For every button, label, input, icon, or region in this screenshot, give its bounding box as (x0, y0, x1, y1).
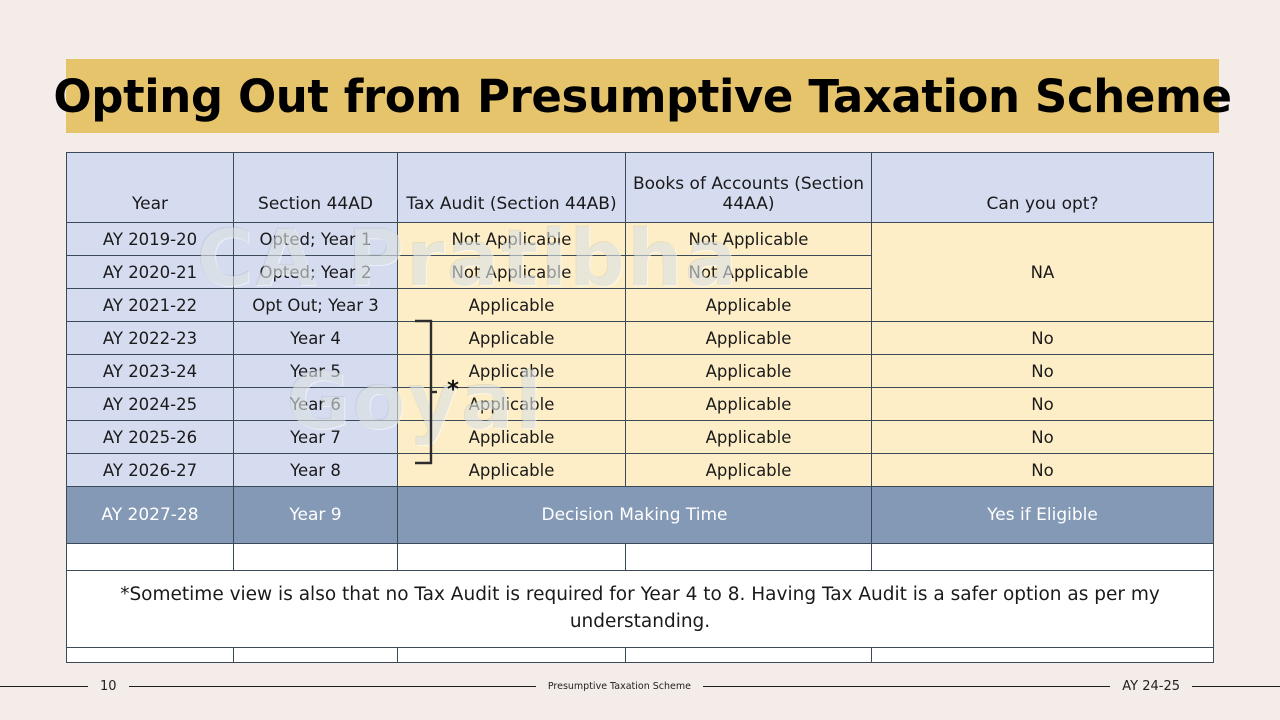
cell-tax-audit: Not Applicable (398, 256, 626, 289)
cell-tax-audit: Not Applicable (398, 223, 626, 256)
cell-year: AY 2020-21 (67, 256, 234, 289)
cell-books: Applicable (626, 322, 872, 355)
cell-tax-audit: Applicable (398, 289, 626, 322)
title-banner: Opting Out from Presumptive Taxation Sch… (66, 59, 1219, 133)
table-row: AY 2026-27 Year 8 Applicable Applicable … (67, 454, 1214, 487)
cell-books: Not Applicable (626, 256, 872, 289)
cell-section-44ad: Opted; Year 2 (234, 256, 398, 289)
cell-tax-audit: Applicable (398, 388, 626, 421)
table-row: AY 2022-23 Year 4 Applicable Applicable … (67, 322, 1214, 355)
table-footnote-row: *Sometime view is also that no Tax Audit… (67, 571, 1214, 648)
column-header-tax-audit: Tax Audit (Section 44AB) (398, 153, 626, 223)
table-row-highlight: AY 2027-28 Year 9 Decision Making Time Y… (67, 487, 1214, 544)
page-title: Opting Out from Presumptive Taxation Sch… (53, 70, 1231, 123)
cell-section-44ad-highlight: Year 9 (234, 487, 398, 544)
footer-rule (1192, 686, 1280, 687)
blank-cell (872, 648, 1214, 663)
cell-books: Applicable (626, 421, 872, 454)
cell-year: AY 2022-23 (67, 322, 234, 355)
cell-can-opt: No (872, 388, 1214, 421)
cell-section-44ad: Year 8 (234, 454, 398, 487)
table-blank-row (67, 544, 1214, 571)
cell-can-opt: No (872, 421, 1214, 454)
cell-books: Applicable (626, 388, 872, 421)
cell-can-opt: No (872, 322, 1214, 355)
blank-cell (626, 544, 872, 571)
footnote-text: *Sometime view is also that no Tax Audit… (67, 571, 1214, 648)
footer-assessment-year: AY 24-25 (1110, 679, 1192, 694)
footer-rule (0, 686, 88, 687)
cell-tax-audit: Applicable (398, 454, 626, 487)
table-header-row: Year Section 44AD Tax Audit (Section 44A… (67, 153, 1214, 223)
blank-cell (234, 648, 398, 663)
cell-books: Applicable (626, 355, 872, 388)
cell-books: Not Applicable (626, 223, 872, 256)
column-header-section-44ad: Section 44AD (234, 153, 398, 223)
cell-can-opt: No (872, 454, 1214, 487)
blank-cell (398, 544, 626, 571)
cell-year-highlight: AY 2027-28 (67, 487, 234, 544)
column-header-can-you-opt: Can you opt? (872, 153, 1214, 223)
blank-cell (67, 544, 234, 571)
cell-section-44ad: Year 5 (234, 355, 398, 388)
cell-can-opt: No (872, 355, 1214, 388)
cell-tax-audit: Applicable (398, 421, 626, 454)
cell-can-opt-na: NA (872, 223, 1214, 322)
cell-year: AY 2025-26 (67, 421, 234, 454)
cell-section-44ad: Year 4 (234, 322, 398, 355)
footer-rule (703, 686, 1110, 687)
column-header-year: Year (67, 153, 234, 223)
cell-books: Applicable (626, 454, 872, 487)
cell-year: AY 2019-20 (67, 223, 234, 256)
cell-section-44ad: Year 7 (234, 421, 398, 454)
blank-cell (626, 648, 872, 663)
cell-section-44ad: Year 6 (234, 388, 398, 421)
cell-year: AY 2021-22 (67, 289, 234, 322)
cell-tax-audit: Applicable (398, 355, 626, 388)
table-row: AY 2024-25 Year 6 Applicable Applicable … (67, 388, 1214, 421)
footer-page-number: 10 (88, 679, 129, 694)
cell-year: AY 2023-24 (67, 355, 234, 388)
slide-footer: 10 Presumptive Taxation Scheme AY 24-25 (0, 676, 1280, 696)
footer-rule (129, 686, 536, 687)
blank-cell (234, 544, 398, 571)
footer-center-label: Presumptive Taxation Scheme (536, 681, 703, 692)
blank-cell (67, 648, 234, 663)
cell-section-44ad: Opted; Year 1 (234, 223, 398, 256)
cell-year: AY 2026-27 (67, 454, 234, 487)
cell-year: AY 2024-25 (67, 388, 234, 421)
cell-decision-making-time: Decision Making Time (398, 487, 872, 544)
presumptive-taxation-table: Year Section 44AD Tax Audit (Section 44A… (66, 152, 1214, 663)
spreadsheet-area: CA Pratibha Goyal Year Section 44AD Tax … (66, 152, 1214, 648)
table-tail-row (67, 648, 1214, 663)
table-row: AY 2019-20 Opted; Year 1 Not Applicable … (67, 223, 1214, 256)
cell-books: Applicable (626, 289, 872, 322)
table-row: AY 2025-26 Year 7 Applicable Applicable … (67, 421, 1214, 454)
column-header-books-of-accounts: Books of Accounts (Section 44AA) (626, 153, 872, 223)
blank-cell (398, 648, 626, 663)
cell-can-opt-highlight: Yes if Eligible (872, 487, 1214, 544)
table-row: AY 2023-24 Year 5 Applicable Applicable … (67, 355, 1214, 388)
bracket-asterisk-marker: * (447, 379, 459, 402)
cell-section-44ad: Opt Out; Year 3 (234, 289, 398, 322)
cell-tax-audit: Applicable (398, 322, 626, 355)
blank-cell (872, 544, 1214, 571)
